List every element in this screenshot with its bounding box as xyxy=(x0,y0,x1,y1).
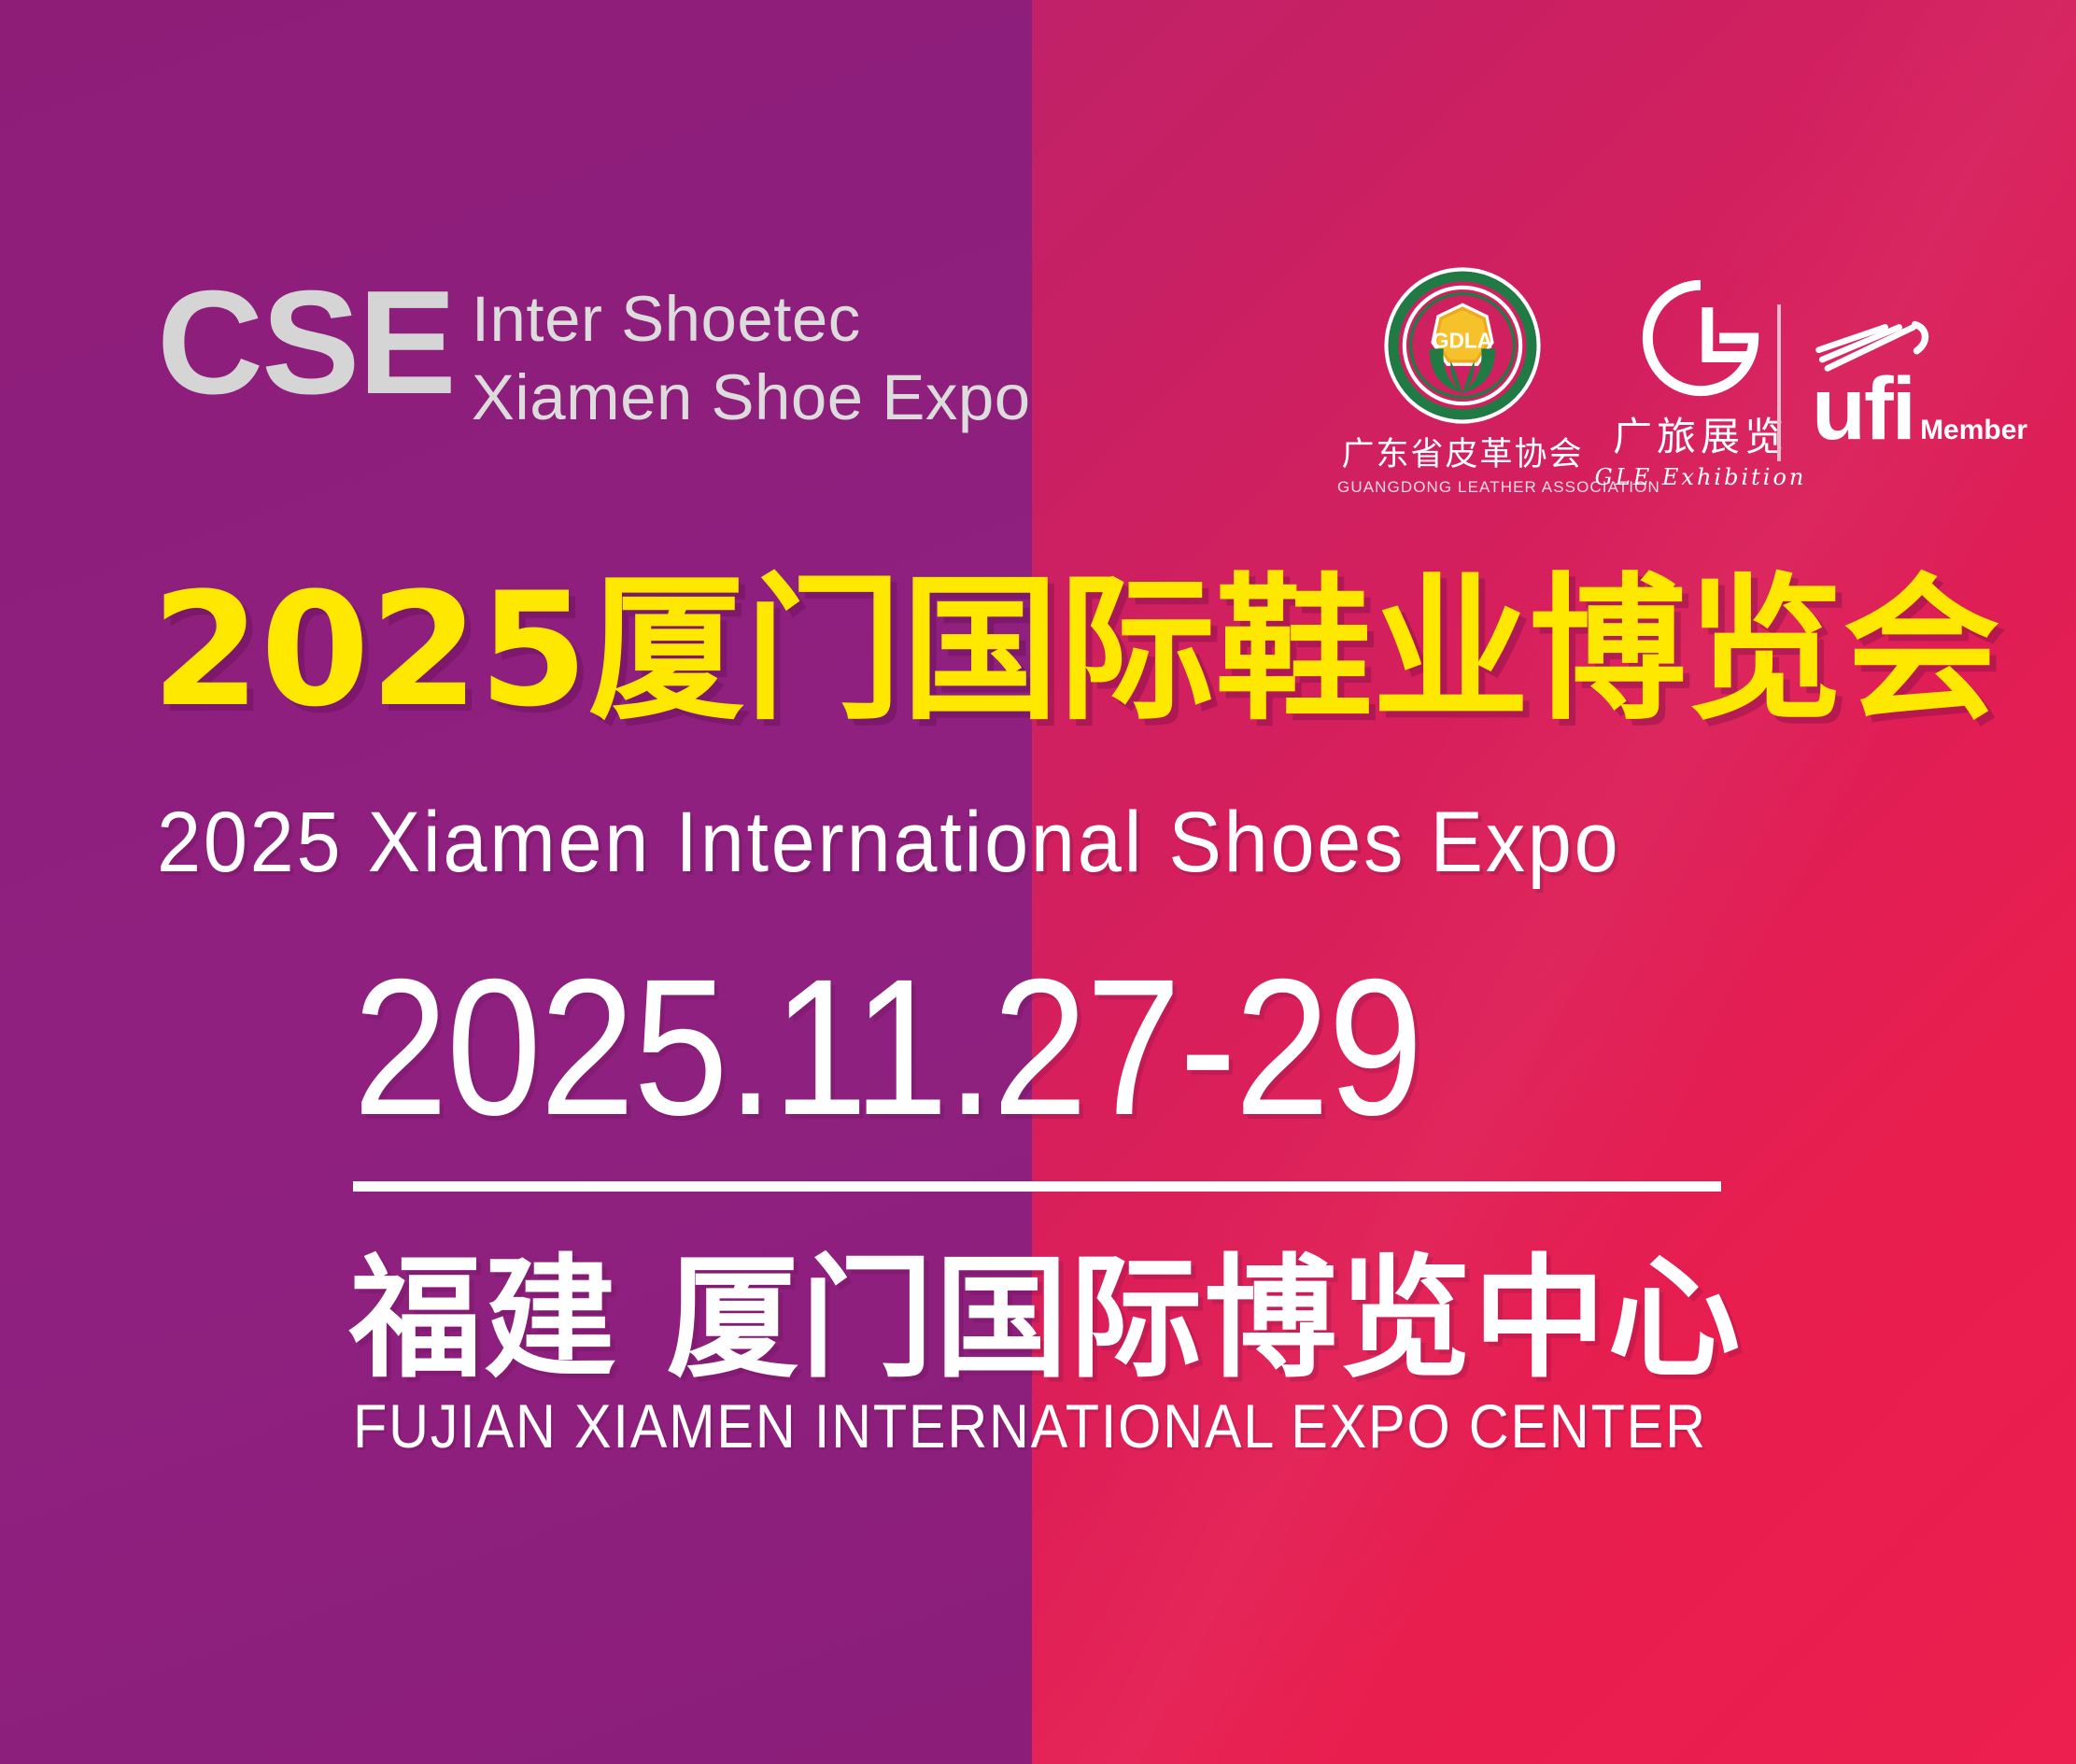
gdla-partner-logo: GDLA 广东省皮革协会 GUANGDONG LEATHER ASSOCIATI… xyxy=(1337,267,1588,497)
event-date: 2025.11.27-29 xyxy=(353,951,1421,1145)
expo-promo-poster: CSE Inter Shoetec Xiamen Shoe Expo GDLA xyxy=(0,0,2076,1764)
cse-brand-line-1: Inter Shoetec xyxy=(472,280,1031,359)
cse-brand-lockup: CSE Inter Shoetec Xiamen Shoe Expo xyxy=(157,269,1031,437)
horizontal-divider xyxy=(353,1181,1721,1192)
gdla-name-cn: 广东省皮革协会 xyxy=(1337,428,1588,475)
poster-header: CSE Inter Shoetec Xiamen Shoe Expo GDLA xyxy=(0,269,2076,502)
event-title-en: 2025 Xiamen International Shoes Expo xyxy=(157,799,1620,885)
gdla-emblem-icon: GDLA xyxy=(1384,267,1541,424)
ufi-wordmark-row: ufi Member xyxy=(1812,374,2027,446)
partner-logo-divider xyxy=(1777,304,1781,461)
cse-logo-mark: CSE xyxy=(157,275,455,412)
gle-name-cn: 广旅展览 xyxy=(1593,405,1808,462)
event-venue-cn: 福建 厦门国际博览中心 xyxy=(349,1253,1742,1386)
event-title-cn: 2025厦门国际鞋业博览会 xyxy=(151,572,2000,728)
gle-name-en: GLE Exhibition xyxy=(1593,464,1808,490)
cse-brand-names: Inter Shoetec Xiamen Shoe Expo xyxy=(472,280,1031,437)
gle-partner-logo: 广旅展览 GLE Exhibition xyxy=(1593,278,1808,490)
ufi-wordmark: ufi xyxy=(1812,374,1914,446)
gdla-name-en: GUANGDONG LEATHER ASSOCIATION xyxy=(1337,478,1588,497)
event-venue-en: FUJIAN XIAMEN INTERNATIONAL EXPO CENTER xyxy=(353,1395,1707,1457)
ufi-member-label: Member xyxy=(1920,415,2027,446)
cse-brand-line-2: Xiamen Shoe Expo xyxy=(472,359,1031,437)
gle-emblem-icon xyxy=(1641,278,1760,398)
ufi-member-logo: ufi Member xyxy=(1812,316,2027,446)
